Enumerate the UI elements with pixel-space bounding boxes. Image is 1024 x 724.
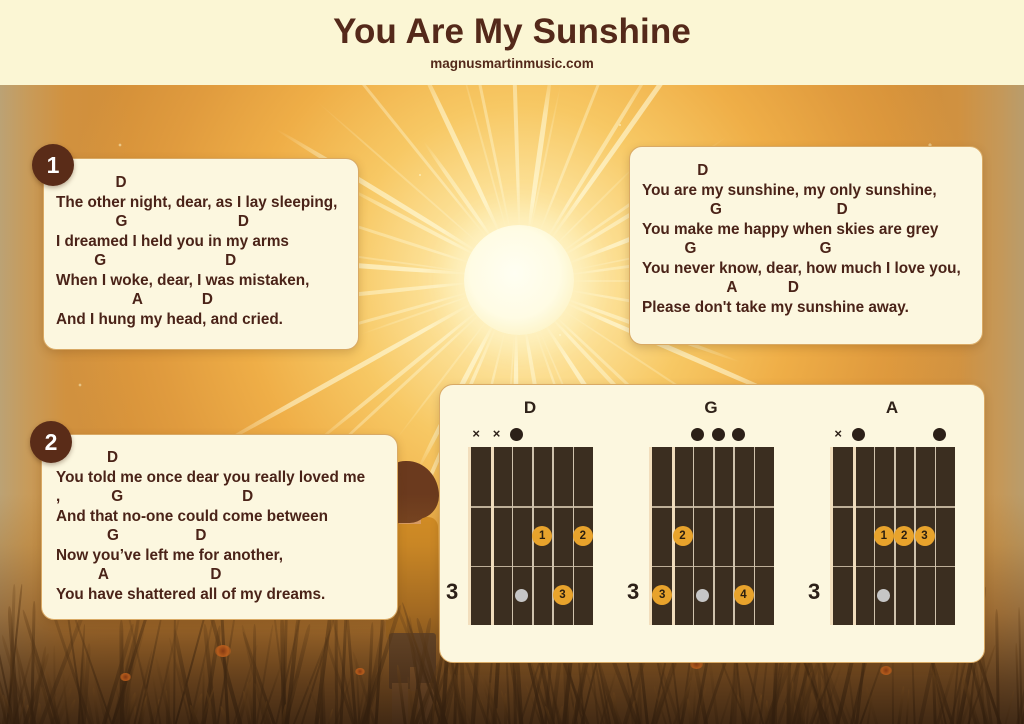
open-string-icon bbox=[852, 428, 865, 441]
chord-line: A D bbox=[56, 565, 387, 585]
finger-dot: 3 bbox=[652, 585, 672, 605]
finger-dot: 1 bbox=[874, 526, 894, 546]
chord-line: , G D bbox=[56, 487, 387, 507]
verse-2-badge: 2 bbox=[30, 421, 72, 463]
open-string-icon bbox=[712, 428, 725, 441]
fretboard: 234 bbox=[649, 447, 774, 625]
verse-1-lyrics: DThe other night, dear, as I lay sleepin… bbox=[44, 159, 358, 340]
string-markers: ×× bbox=[466, 425, 594, 445]
lyric-line: And I hung my head, and cried. bbox=[56, 310, 346, 330]
fretboard: 123 bbox=[468, 447, 593, 625]
lyric-line: You have shattered all of my dreams. bbox=[56, 585, 387, 605]
string-line bbox=[693, 447, 695, 625]
open-string-icon bbox=[691, 428, 704, 441]
lyric-line: When I woke, dear, I was mistaken, bbox=[56, 271, 346, 291]
sunflower bbox=[355, 668, 365, 676]
base-fret-number: 3 bbox=[627, 579, 639, 605]
finger-dot: 3 bbox=[553, 585, 573, 605]
open-string-icon bbox=[732, 428, 745, 441]
site-attribution: magnusmartinmusic.com bbox=[0, 56, 1024, 71]
verse-2-lyrics: DYou told me once dear you really loved … bbox=[42, 435, 397, 613]
lyric-line: You never know, dear, how much I love yo… bbox=[642, 259, 972, 279]
songsheet-page: You Are My Sunshine magnusmartinmusic.co… bbox=[0, 0, 1024, 724]
string-line bbox=[853, 447, 856, 625]
muted-position-dot bbox=[877, 589, 890, 602]
muted-string-icon: × bbox=[489, 425, 504, 443]
lyric-line: Please don't take my sunshine away. bbox=[642, 298, 972, 318]
finger-dot: 2 bbox=[894, 526, 914, 546]
string-line bbox=[713, 447, 715, 625]
lyric-line: The other night, dear, as I lay sleeping… bbox=[56, 193, 346, 213]
lyric-line: You make me happy when skies are grey bbox=[642, 220, 972, 240]
open-string-icon bbox=[510, 428, 523, 441]
lyric-line: I dreamed I held you in my arms bbox=[56, 232, 346, 252]
chord-diagram: G2343 bbox=[621, 385, 801, 662]
string-markers bbox=[647, 425, 775, 445]
sunflower bbox=[120, 673, 131, 681]
chord-line: G D bbox=[56, 251, 346, 271]
muted-string-icon: × bbox=[469, 425, 484, 443]
sunflower bbox=[215, 645, 231, 657]
chord-line: D bbox=[56, 448, 387, 468]
muted-position-dot bbox=[696, 589, 709, 602]
string-line bbox=[754, 447, 756, 625]
finger-dot: 2 bbox=[673, 526, 693, 546]
fretboard: 123 bbox=[830, 447, 955, 625]
muted-position-dot bbox=[515, 589, 528, 602]
string-markers: × bbox=[828, 425, 956, 445]
chord-line: G D bbox=[56, 526, 387, 546]
page-header: You Are My Sunshine magnusmartinmusic.co… bbox=[0, 0, 1024, 85]
page-title: You Are My Sunshine bbox=[0, 12, 1024, 52]
open-string-icon bbox=[933, 428, 946, 441]
chord-line: A D bbox=[642, 278, 972, 298]
muted-string-icon: × bbox=[831, 425, 846, 443]
verse-1-badge: 1 bbox=[32, 144, 74, 186]
chord-line: G G bbox=[642, 239, 972, 259]
finger-dot: 3 bbox=[915, 526, 935, 546]
sunflower bbox=[880, 666, 892, 675]
finger-dot: 4 bbox=[734, 585, 754, 605]
chord-name: A bbox=[802, 398, 982, 418]
chord-line: G D bbox=[642, 200, 972, 220]
verse-1-card: DThe other night, dear, as I lay sleepin… bbox=[43, 158, 359, 350]
finger-dot: 2 bbox=[573, 526, 593, 546]
finger-dot: 1 bbox=[532, 526, 552, 546]
string-line bbox=[512, 447, 514, 625]
verse-2-card: DYou told me once dear you really loved … bbox=[41, 434, 398, 620]
chord-line: G D bbox=[56, 212, 346, 232]
chord-diagram: A×1233 bbox=[802, 385, 982, 662]
chord-name: G bbox=[621, 398, 801, 418]
string-line bbox=[935, 447, 937, 625]
lyric-line: Now you’ve left me for another, bbox=[56, 546, 387, 566]
chorus-card: DYou are my sunshine, my only sunshine, … bbox=[629, 146, 983, 345]
chord-line: A D bbox=[56, 290, 346, 310]
lyric-line: You are my sunshine, my only sunshine, bbox=[642, 181, 972, 201]
base-fret-number: 3 bbox=[446, 579, 458, 605]
chord-name: D bbox=[440, 398, 620, 418]
chord-line: D bbox=[642, 161, 972, 181]
string-line bbox=[491, 447, 494, 625]
chord-line: D bbox=[56, 173, 346, 193]
lyric-line: You told me once dear you really loved m… bbox=[56, 468, 387, 488]
base-fret-number: 3 bbox=[808, 579, 820, 605]
chord-diagram-panel: D××1233G2343A×1233 bbox=[439, 384, 985, 663]
chord-diagram: D××1233 bbox=[440, 385, 620, 662]
lyric-line: And that no-one could come between bbox=[56, 507, 387, 527]
chorus-lyrics: DYou are my sunshine, my only sunshine, … bbox=[630, 147, 982, 328]
